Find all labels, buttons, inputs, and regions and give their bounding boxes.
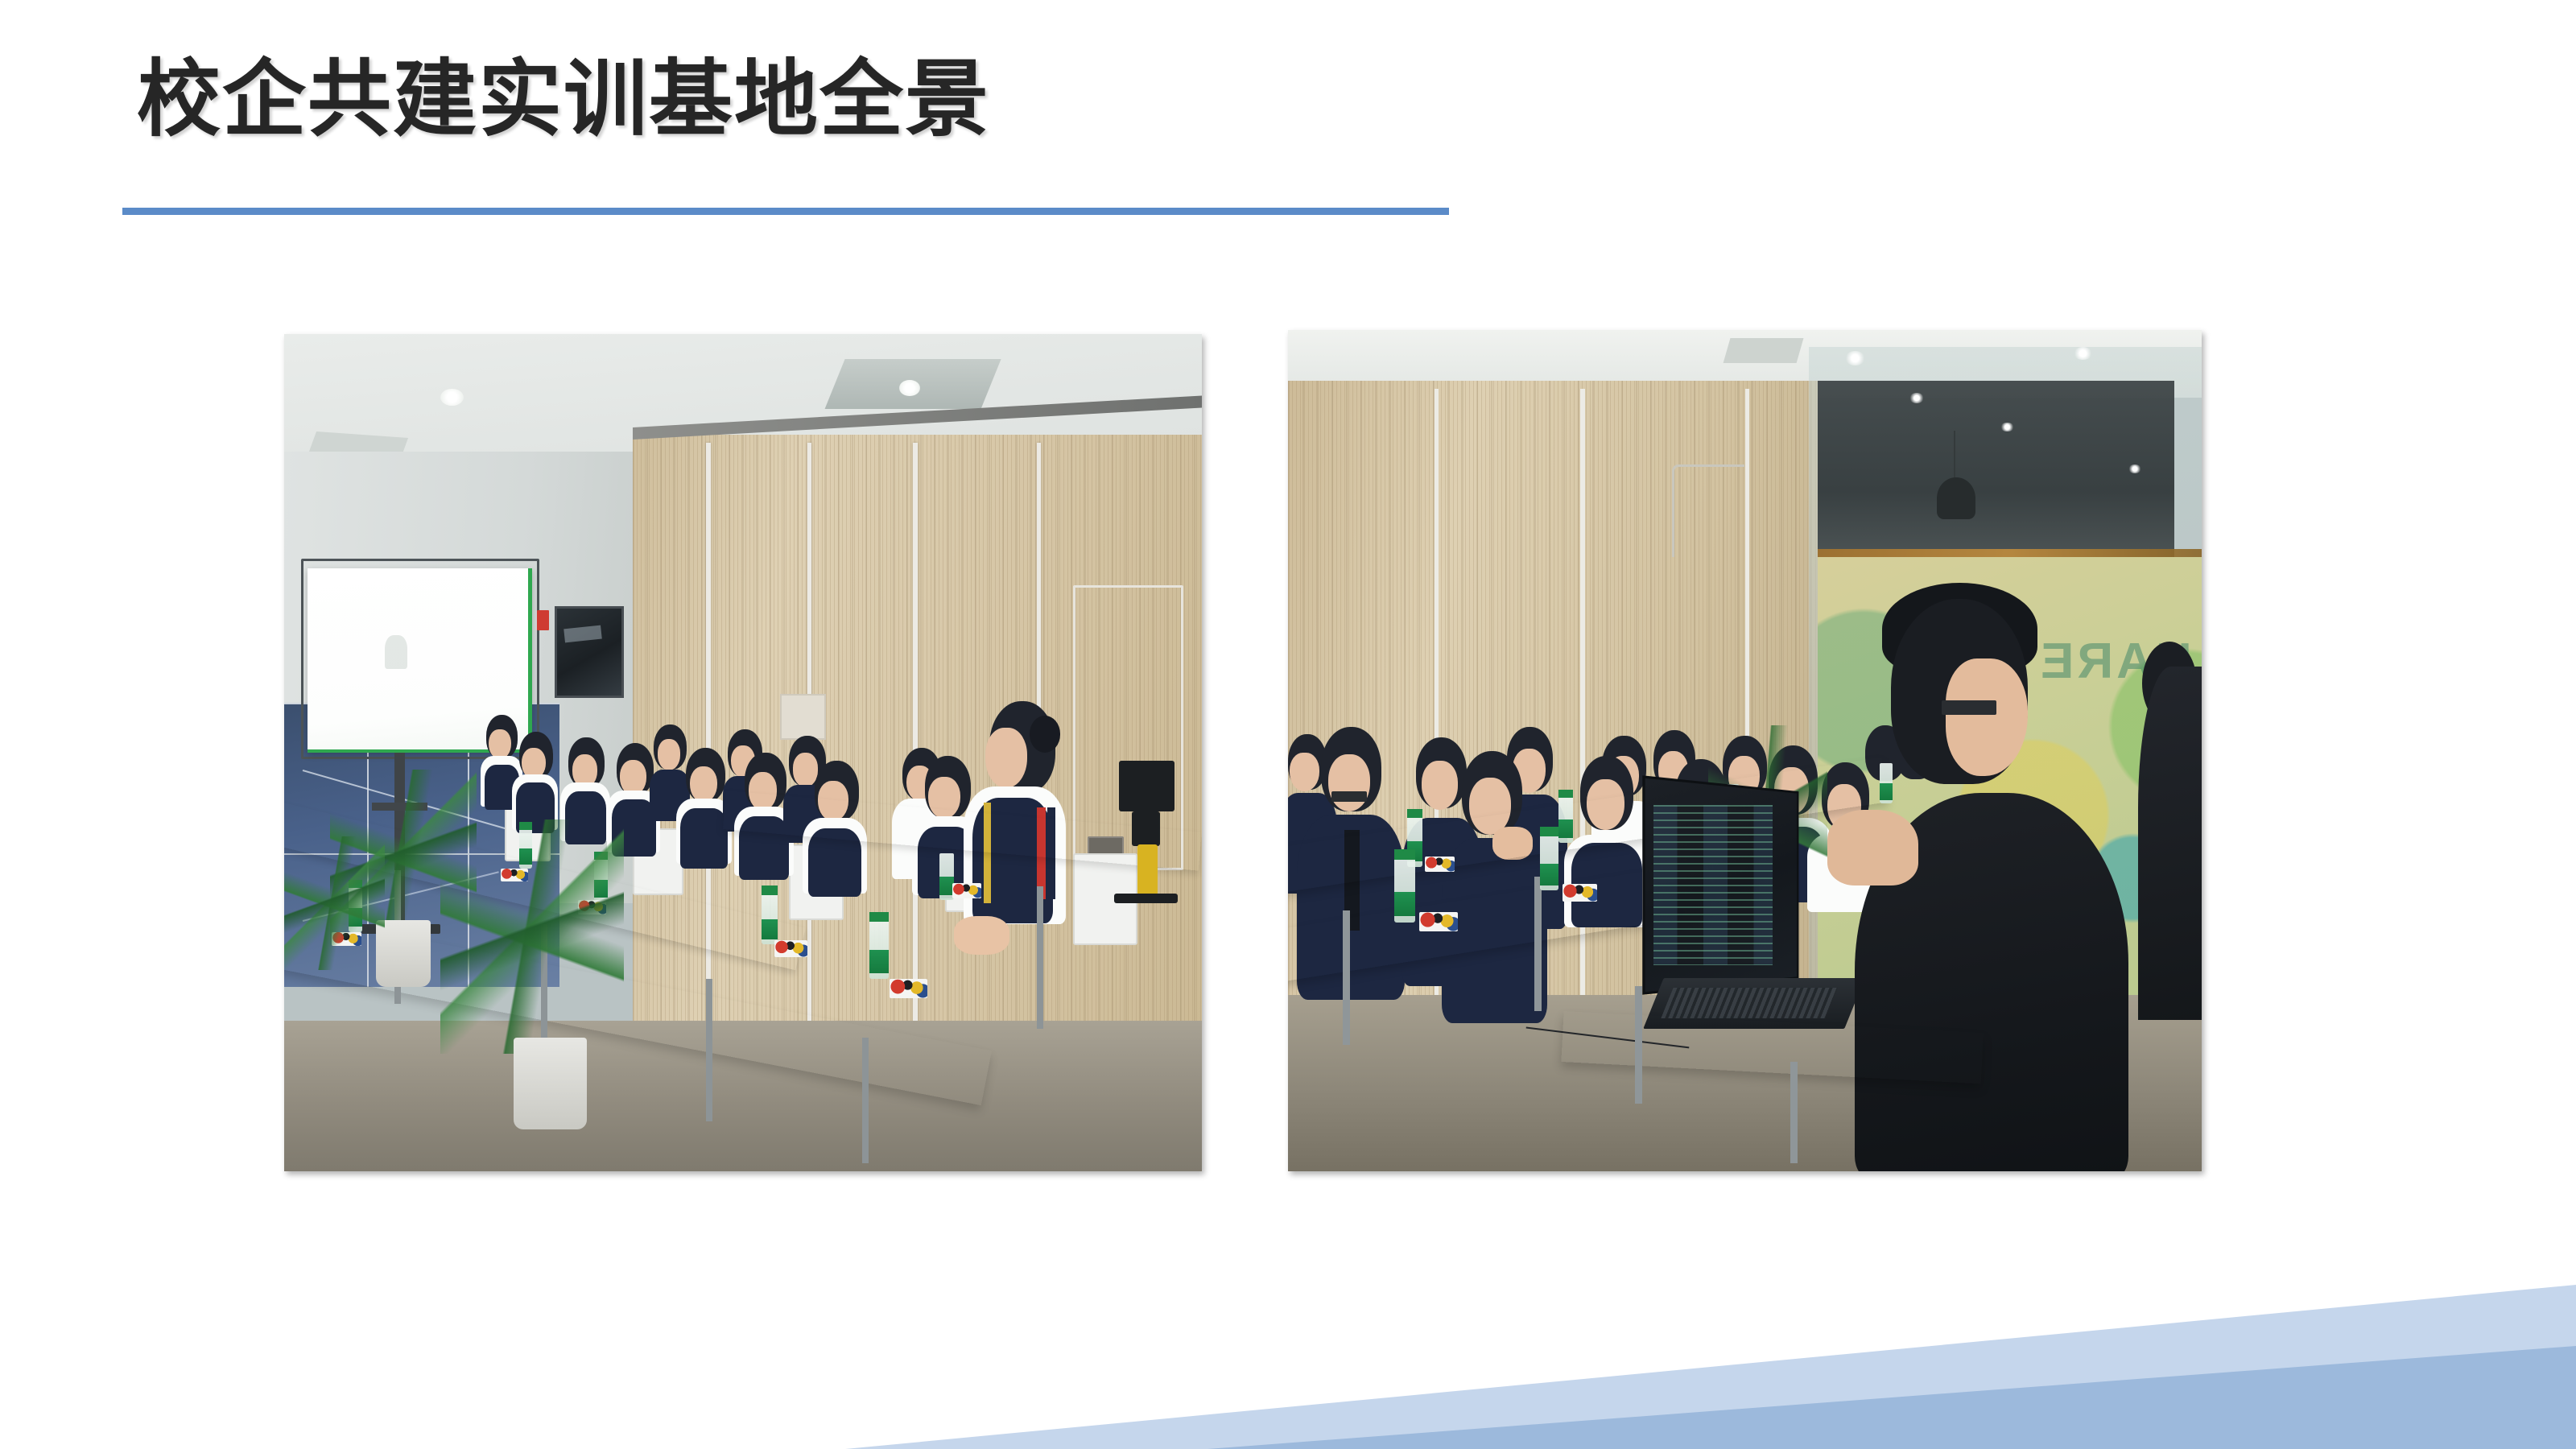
partition-joint	[913, 443, 918, 1029]
plant-pot	[514, 1038, 587, 1129]
ceiling-vent	[1723, 338, 1803, 363]
student-hair-bun	[1030, 716, 1061, 753]
student-face	[793, 753, 819, 787]
potted-plant-leaves	[440, 819, 624, 1054]
exit-sign	[537, 610, 550, 630]
ceiling-light	[2074, 347, 2092, 360]
bottle-cap	[762, 885, 778, 894]
photo-left-scene	[284, 334, 1202, 1171]
table-leg	[706, 979, 712, 1121]
table-leg	[862, 1038, 869, 1163]
table-leg	[1534, 877, 1542, 1011]
student-face	[1290, 753, 1319, 791]
candy-tray	[1425, 857, 1454, 872]
photo-right-scene: HARE	[1288, 330, 2202, 1171]
bottle-label	[1540, 864, 1558, 885]
candy-tray	[952, 883, 981, 898]
bottle-label	[1394, 892, 1415, 916]
table-leg	[1635, 986, 1642, 1104]
ceiling-light	[899, 380, 920, 396]
camera-gimbal-arm	[1132, 811, 1159, 847]
student-face	[489, 729, 510, 759]
camera-tripod-base	[1114, 894, 1179, 903]
candy-tray	[774, 940, 807, 957]
ceiling-light	[1845, 351, 1865, 365]
bottle-cap	[869, 912, 889, 922]
camera-grip-handle	[1137, 844, 1158, 894]
photo-training-classroom-wide[interactable]	[284, 334, 1202, 1171]
projection-screen-logo	[385, 635, 407, 669]
wall-hook-rail	[1672, 464, 1745, 557]
pendant-lamp	[1937, 477, 1975, 519]
wall-mounted-tv	[555, 606, 624, 698]
eyeglasses	[1331, 791, 1366, 803]
table-leg	[1037, 886, 1043, 1029]
ceiling-light	[2128, 464, 2141, 473]
student-face	[658, 739, 681, 770]
slide-canvas: 校企共建实训基地全景	[0, 0, 2576, 1449]
eyeglasses	[1942, 700, 1996, 715]
laptop-keyboard	[1661, 988, 1837, 1018]
bottle-cap	[1558, 790, 1573, 798]
attendee-right	[2138, 667, 2202, 1020]
candy-tray	[1419, 912, 1458, 931]
bottle-cap	[1394, 849, 1415, 861]
bottle-cap	[1407, 809, 1422, 818]
ceiling-light	[1909, 393, 1924, 403]
student-face	[1422, 761, 1458, 810]
bottle-label	[869, 950, 889, 972]
instructor-arm	[1827, 810, 1919, 885]
student-hands	[954, 916, 1009, 955]
photo-enterprise-mentor-session[interactable]: HARE	[1288, 330, 2202, 1171]
laptop-code-editor	[1653, 805, 1773, 965]
student-face	[1328, 754, 1370, 811]
candy-tray	[890, 979, 927, 998]
camera-gimbal	[1119, 761, 1174, 811]
table-leg	[1343, 910, 1350, 1045]
bottle-cap	[1540, 827, 1558, 837]
candy-tray	[1563, 884, 1597, 902]
title-divider	[122, 208, 1449, 215]
wall-control-panel	[780, 694, 826, 740]
bottle-label	[1880, 783, 1893, 800]
bottle-label	[1558, 819, 1573, 838]
page-title: 校企共建实训基地全景	[137, 50, 990, 151]
table-leg	[1790, 1062, 1798, 1162]
potted-plant-leaves	[284, 836, 385, 970]
pendant-lamp-cord	[1954, 431, 1955, 481]
student-vest	[680, 808, 727, 869]
student-foreground-face	[985, 728, 1027, 788]
exposed-ceiling-beyond-glass	[1818, 381, 2174, 566]
bottle-label	[762, 919, 778, 939]
